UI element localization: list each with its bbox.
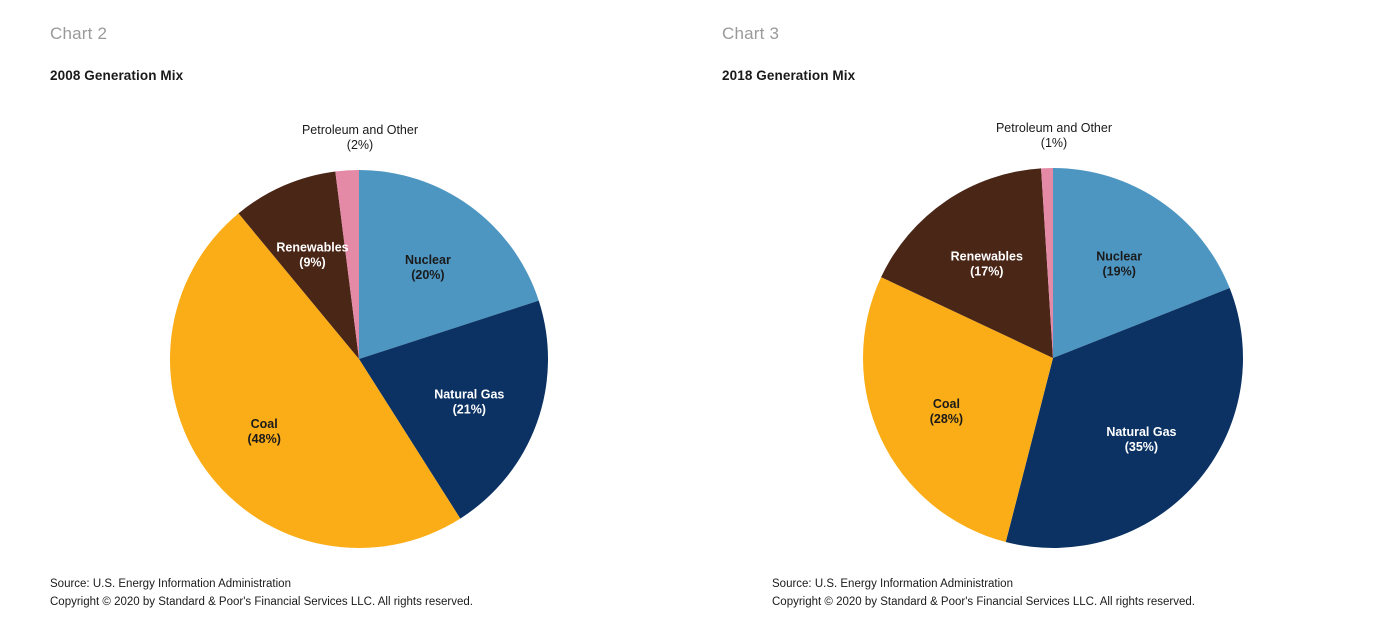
pie-slice-label-value: (21%) (453, 403, 486, 417)
chart-title: 2008 Generation Mix (50, 68, 697, 84)
pie-chart-2008-svg: Nuclear(20%)Natural Gas(21%)Coal(48%)Ren… (0, 118, 697, 563)
pie-chart-2018: Nuclear(19%)Natural Gas(35%)Coal(28%)Ren… (697, 118, 1394, 563)
pie-slice-label-value: (17%) (970, 265, 1003, 279)
pie-slice-label-name: Coal (251, 417, 278, 431)
footer-source: Source: U.S. Energy Information Administ… (772, 575, 1195, 593)
pie-slice-label-name: Petroleum and Other (302, 123, 418, 137)
pie-slice-label-name: Nuclear (1096, 250, 1142, 264)
footer-source: Source: U.S. Energy Information Administ… (50, 575, 473, 593)
pie-slice-label-name: Coal (933, 397, 960, 411)
pie-slice-label-name: Renewables (276, 241, 348, 255)
chart-footer-3: Source: U.S. Energy Information Administ… (772, 575, 1195, 611)
charts-page: Chart 2 2008 Generation Mix Nuclear(20%)… (0, 0, 1394, 641)
pie-slice-label-value: (20%) (411, 268, 444, 282)
pie-slice-label-value: (48%) (248, 432, 281, 446)
chart-footer-2: Source: U.S. Energy Information Administ… (50, 575, 473, 611)
chart-number-label: Chart 3 (722, 24, 1394, 44)
pie-slice-label: Nuclear(19%) (1096, 250, 1142, 279)
pie-slice-label-value: (2%) (347, 138, 373, 152)
pie-slice-label-name: Renewables (951, 250, 1023, 264)
pie-slice-label: Nuclear(20%) (405, 253, 451, 282)
pie-slice-label-value: (1%) (1041, 136, 1067, 150)
pie-slice-label-value: (19%) (1103, 265, 1136, 279)
chart-panel-2-header: Chart 2 2008 Generation Mix (50, 24, 697, 84)
pie-slice-label-name: Natural Gas (1106, 425, 1176, 439)
pie-slice-label-value: (9%) (299, 256, 325, 270)
pie-slice-label: Coal(48%) (248, 417, 281, 446)
chart-panel-2: Chart 2 2008 Generation Mix Nuclear(20%)… (0, 0, 697, 641)
pie-slice-label-name: Natural Gas (434, 388, 504, 402)
pie-chart-2008: Nuclear(20%)Natural Gas(21%)Coal(48%)Ren… (0, 118, 697, 563)
pie-slice-label-name: Petroleum and Other (996, 121, 1112, 135)
pie-chart-2018-svg: Nuclear(19%)Natural Gas(35%)Coal(28%)Ren… (697, 118, 1394, 563)
chart-panel-3: Chart 3 2018 Generation Mix Nuclear(19%)… (697, 0, 1394, 641)
chart-number-label: Chart 2 (50, 24, 697, 44)
pie-slice-label: Coal(28%) (930, 397, 963, 426)
footer-copyright: Copyright © 2020 by Standard & Poor's Fi… (772, 593, 1195, 611)
chart-title: 2018 Generation Mix (722, 68, 1394, 84)
pie-slice-label: Petroleum and Other(2%) (302, 123, 418, 152)
pie-slice-label-value: (35%) (1125, 440, 1158, 454)
footer-copyright: Copyright © 2020 by Standard & Poor's Fi… (50, 593, 473, 611)
chart-panel-3-header: Chart 3 2018 Generation Mix (697, 24, 1394, 84)
pie-slice-label-name: Nuclear (405, 253, 451, 267)
pie-slice-label-value: (28%) (930, 412, 963, 426)
pie-slice-label: Petroleum and Other(1%) (996, 121, 1112, 150)
